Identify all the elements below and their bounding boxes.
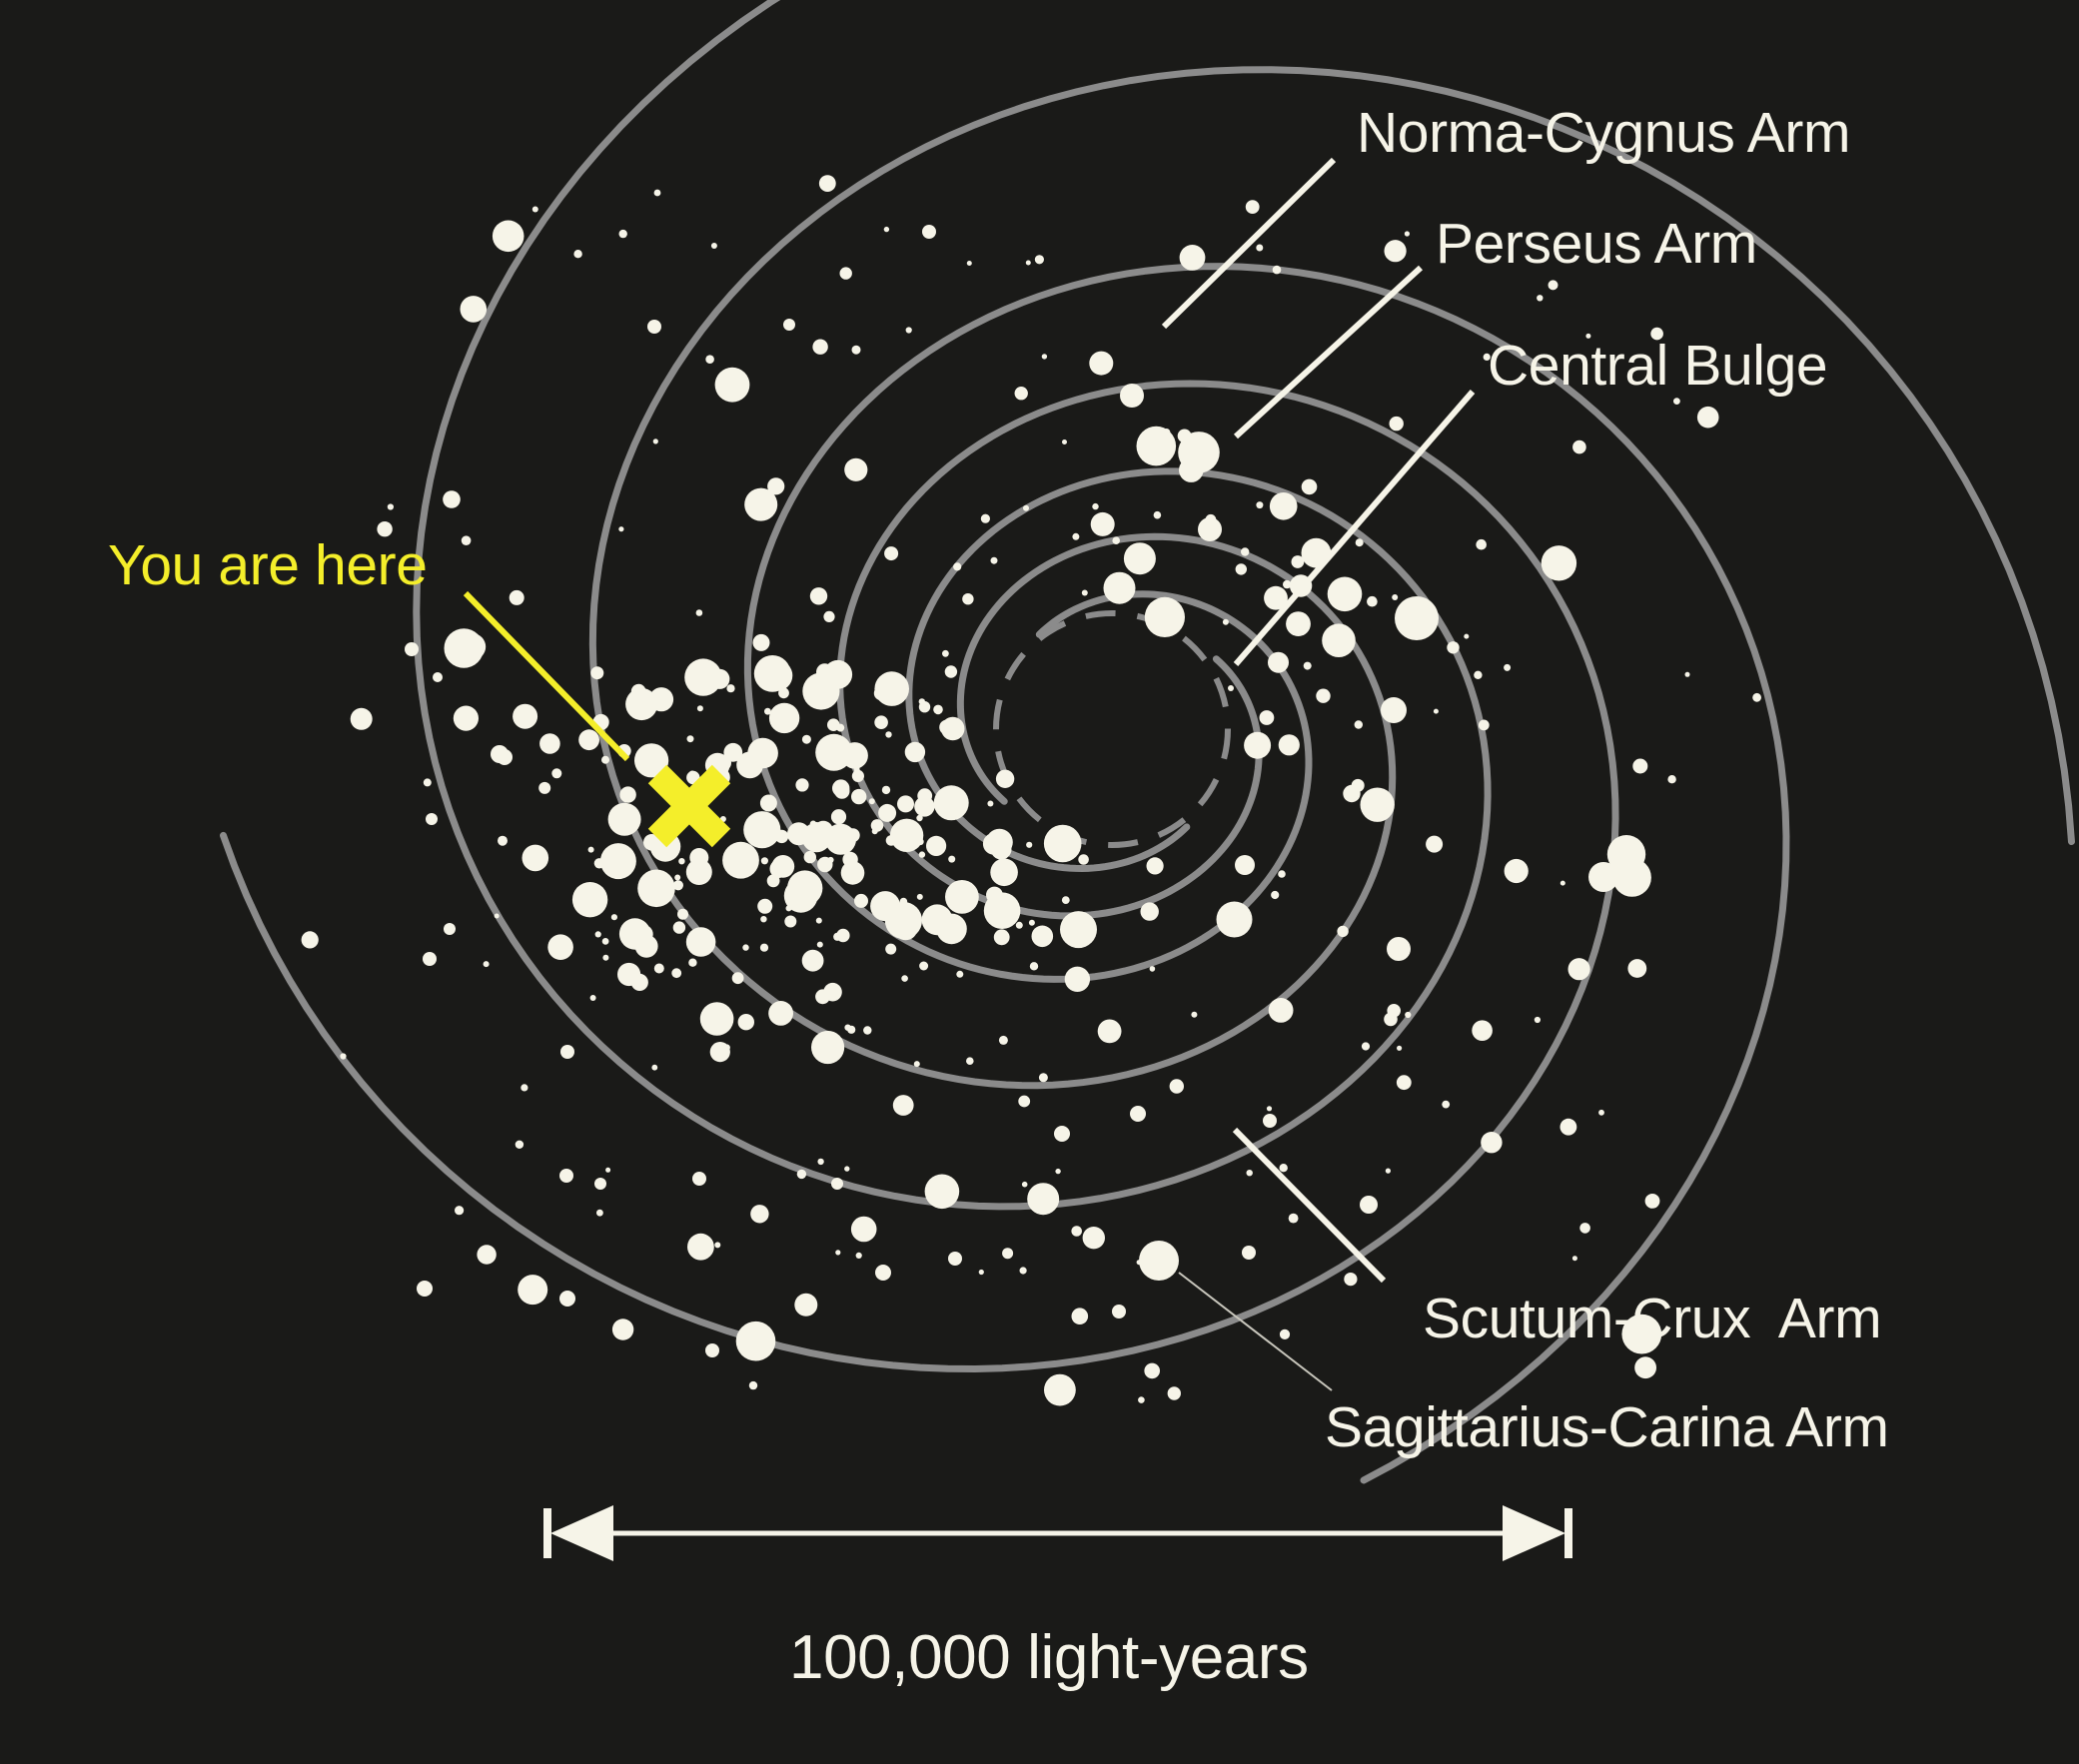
star [1198,517,1222,541]
star [1055,1169,1060,1174]
star [1072,533,1079,540]
star [1542,545,1576,580]
star [1082,590,1088,596]
star [711,243,717,249]
star [761,857,768,864]
star [760,795,777,812]
star [1147,857,1164,874]
star [1228,685,1234,691]
star [696,609,703,616]
star [945,665,957,677]
star [1065,967,1090,992]
star [1322,623,1356,657]
star [1112,536,1120,544]
star [1504,664,1511,671]
star [926,836,946,856]
star [754,655,791,692]
star [1560,1119,1577,1136]
star [882,786,890,794]
star [1392,594,1398,600]
star [495,914,500,919]
star [991,557,998,564]
label-central-bulge: Central Bulge [1488,334,1827,398]
star [1434,709,1439,714]
star [919,698,925,704]
star [516,1141,523,1149]
star [1447,641,1459,653]
star [925,1175,960,1210]
star [1089,352,1113,376]
star [1256,501,1263,508]
star [1030,962,1038,970]
star [812,340,827,355]
star [844,1166,849,1171]
star [900,898,908,906]
star [815,989,830,1004]
star [906,327,912,333]
star [1386,1169,1391,1174]
star [1697,407,1719,429]
star [637,870,675,908]
star [1612,858,1651,897]
star [916,815,922,821]
star [1078,854,1089,865]
star [852,346,861,355]
star [736,1322,776,1361]
star [795,778,808,791]
star [1242,1246,1256,1260]
star [1054,1126,1070,1142]
star [831,1178,843,1190]
star [854,894,868,908]
star [1138,1396,1145,1403]
star [726,684,734,692]
star [634,925,653,944]
star [1260,710,1275,725]
star [1685,672,1690,677]
star [518,1275,547,1305]
star [962,593,973,604]
star [417,1281,433,1297]
star [522,845,549,872]
star [1271,891,1279,899]
star [817,942,823,948]
star [532,207,538,213]
star [1673,398,1680,405]
star [827,718,840,731]
star [901,975,908,982]
star [1263,1114,1277,1128]
star [852,770,864,782]
star [917,894,923,900]
star [1256,245,1263,252]
star [743,811,780,848]
star [1278,870,1286,878]
star [810,587,827,604]
star [875,1265,891,1281]
star [815,734,852,771]
star [784,879,818,913]
star [1537,295,1543,301]
star [990,859,1018,887]
star [1235,855,1255,875]
star [869,798,875,804]
label-sagittarius-carina-arm: Sagittarius-Carina Arm [1325,1395,1889,1459]
star [1241,547,1249,555]
star [797,1170,806,1179]
star [933,705,943,715]
star [816,918,822,924]
star [871,819,884,832]
label-perseus-arm: Perseus Arm [1436,212,1757,276]
star [619,230,627,238]
star [1426,836,1443,853]
star [572,882,607,917]
star [1170,1079,1184,1093]
star [647,320,661,334]
label-you-are-here: You are here [108,533,428,597]
star [351,708,373,730]
star [1236,563,1247,574]
star [750,1205,768,1223]
star [948,1252,962,1266]
star [1217,902,1253,938]
star [802,672,839,709]
star [1179,457,1204,482]
star [653,439,658,443]
star [810,822,823,835]
star [710,1042,730,1062]
star [905,742,925,762]
star [1139,1241,1179,1281]
star [1337,926,1348,937]
star [856,1253,862,1259]
star [919,851,925,857]
star [1474,671,1482,679]
star [722,842,759,879]
star [559,1169,573,1183]
star [996,770,1014,788]
star [560,1045,574,1059]
star [1141,902,1159,920]
star [687,1234,714,1261]
star [520,1084,527,1091]
star [1476,539,1487,550]
star [1752,693,1761,702]
label-scutum-crux-arm: Scutum-Crux Arm [1423,1287,1881,1350]
star [1384,1013,1398,1027]
star [551,768,561,778]
star [831,809,846,824]
star [783,319,795,331]
star [723,743,742,762]
star [705,1343,719,1357]
star [608,848,621,861]
star [590,666,603,679]
star [700,1002,734,1036]
star [1018,1096,1030,1108]
star [460,641,482,663]
star [734,973,740,979]
star [1150,966,1156,972]
star [1362,1042,1370,1050]
star [1060,911,1097,948]
star [1472,1020,1493,1041]
star [388,503,394,509]
star [1549,280,1559,290]
star [654,964,664,974]
star [617,963,640,986]
star [510,590,524,605]
star [454,706,479,731]
star [840,267,852,279]
star [1246,200,1260,214]
star [874,715,888,729]
star [1572,1256,1577,1261]
star [1280,1164,1288,1172]
star [1381,697,1407,723]
star [1154,511,1162,519]
star [1112,1305,1126,1319]
star [619,786,635,802]
star [651,1065,657,1071]
star [697,705,703,711]
star [1178,430,1192,443]
star [715,368,750,403]
star [1505,859,1529,883]
star [885,902,922,939]
star [922,225,936,239]
star [884,227,889,232]
star [798,829,804,835]
star [600,843,636,879]
star [917,838,924,845]
star [769,703,799,733]
star [684,658,721,695]
star [885,944,896,955]
star [885,731,891,737]
star [426,813,438,825]
star [819,175,836,192]
star [594,858,604,868]
star [817,1159,823,1165]
star [1405,1012,1411,1018]
star [1632,759,1647,774]
star [1092,503,1098,509]
star [477,1245,496,1264]
star [760,944,768,952]
star [455,1206,464,1215]
star [444,923,456,935]
star [538,782,550,794]
star [1560,881,1565,886]
star [602,938,609,945]
star [461,296,488,323]
star [1316,689,1330,703]
star [424,778,432,786]
star [1130,1106,1146,1122]
star [811,1031,844,1064]
star [462,535,472,545]
star [1044,1374,1076,1406]
star [1267,1106,1272,1111]
star [647,706,653,712]
star [1367,596,1378,607]
star [1273,266,1282,275]
star [1535,1017,1541,1023]
star [802,735,811,744]
star [1104,572,1136,604]
star [941,717,965,741]
star [1390,417,1404,431]
star [1270,492,1298,520]
star [1280,1329,1290,1339]
star [1191,1012,1197,1018]
star [742,944,748,950]
star [991,839,1012,860]
star [897,795,914,812]
star [966,1057,974,1065]
star [1062,440,1067,444]
star [688,959,696,967]
star [573,250,581,258]
star [948,856,955,863]
star [1479,720,1490,731]
star [405,642,419,656]
star [1120,384,1144,408]
star [738,1014,754,1030]
star [608,803,641,836]
star [942,650,949,657]
star [433,672,443,682]
star [602,955,608,961]
star [1328,577,1363,612]
star [823,611,834,622]
star [671,968,681,978]
star [1223,619,1229,625]
star [851,789,866,804]
star [934,785,969,820]
star [678,858,684,864]
star [547,934,573,960]
star [559,1291,575,1307]
star [825,824,856,855]
star [590,995,596,1001]
star [1027,1183,1059,1215]
star [1091,512,1115,536]
star [994,929,1010,945]
star [804,895,813,904]
star [1145,597,1185,637]
star [1247,1170,1253,1176]
galaxy-diagram: Norma-Cygnus Arm Perseus Arm Central Bul… [0,0,2079,1764]
star [1588,862,1618,892]
star [1397,1046,1402,1051]
star [605,1168,610,1173]
star [1022,1182,1028,1188]
star [1360,1196,1378,1214]
star [1302,479,1318,495]
star [1344,1273,1357,1286]
star [1244,732,1271,759]
star [999,1036,1008,1045]
star [836,929,849,942]
star [863,1026,871,1034]
star [1168,1386,1181,1399]
star [771,855,794,878]
star [757,899,772,914]
star [618,526,623,531]
star [834,843,840,849]
star [851,1217,877,1243]
star [753,634,770,651]
star [625,688,657,720]
star [1634,1356,1656,1378]
star [601,756,609,764]
star [484,961,490,967]
star [674,875,680,881]
star [834,783,849,798]
star [1071,1226,1082,1237]
star [1083,1227,1105,1249]
star [493,221,524,253]
star [1598,1110,1604,1116]
star [580,895,586,901]
star [578,729,599,750]
star [802,950,824,972]
star [1035,255,1044,264]
star [497,749,513,765]
star [1464,634,1469,639]
star [654,190,661,197]
star [844,458,867,481]
star [874,686,889,701]
star [768,1001,793,1026]
star [1015,387,1028,400]
star [1343,785,1360,802]
star [1361,788,1395,822]
star [1405,231,1410,236]
star [1072,1308,1089,1324]
star [917,788,932,803]
star [1180,245,1206,271]
star [827,857,833,863]
star [539,733,560,754]
star [1137,427,1177,466]
star [1279,734,1300,755]
star [744,488,777,521]
star [1062,896,1070,904]
star [893,1095,914,1116]
star [890,819,923,852]
star [1039,1073,1048,1082]
star [987,801,993,807]
star [1572,441,1586,454]
star [677,909,688,920]
star [714,1242,720,1248]
star [705,355,714,364]
star [1144,1363,1160,1379]
star [594,1178,606,1190]
star [984,892,1021,929]
star [804,851,816,863]
star [1026,842,1032,848]
star [1387,937,1411,961]
star [673,921,685,933]
star [1023,505,1029,511]
star [1289,1214,1299,1224]
star [689,848,708,867]
